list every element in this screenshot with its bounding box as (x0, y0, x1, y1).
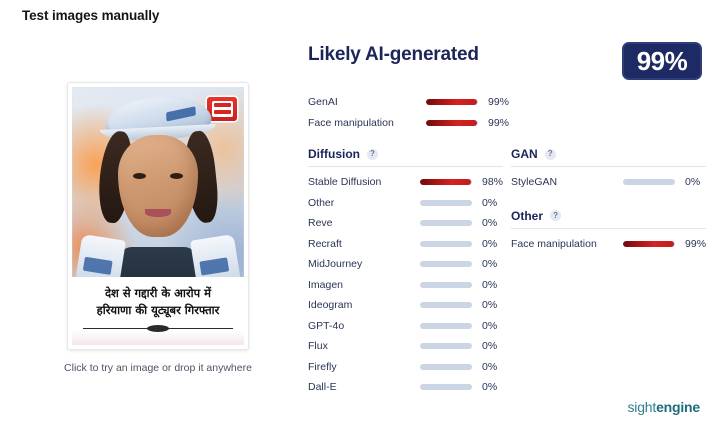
summary-1-bar-fill (426, 120, 477, 126)
summary-1-percent: 99% (488, 117, 509, 129)
aajtak-watermark-icon (207, 97, 237, 121)
gan-0-bar-track (623, 179, 675, 185)
diffusion-1-bar-track (420, 200, 472, 206)
gan-section: GAN?StyleGAN0% (511, 147, 706, 193)
diffusion-10-percent: 0% (482, 381, 497, 393)
other-0-bar-track (623, 241, 675, 247)
gan-item-list: StyleGAN0% (511, 172, 706, 193)
diffusion-4-bar-track (420, 261, 472, 267)
diffusion-6-label: Ideogram (308, 299, 414, 311)
other-item-list: Face manipulation99% (511, 234, 706, 255)
diffusion-3-bar-track (420, 241, 472, 247)
other-section: Other?Face manipulation99% (511, 209, 706, 255)
diffusion-item-list: Stable Diffusion98%Other0%Reve0%Recraft0… (308, 172, 503, 398)
sightengine-logo: sightengine (628, 399, 701, 415)
diffusion-column: Diffusion?Stable Diffusion98%Other0%Reve… (308, 147, 503, 398)
diffusion-2-bar-track (420, 220, 472, 226)
diffusion-3-label: Recraft (308, 238, 414, 250)
diffusion-1-label: Other (308, 197, 414, 209)
diffusion-5-percent: 0% (482, 279, 497, 291)
diffusion-7-percent: 0% (482, 320, 497, 332)
summary-0-percent: 99% (488, 96, 509, 108)
diffusion-9-bar-track (420, 364, 472, 370)
logo-text-bold: engine (656, 399, 700, 415)
results-panel: Likely AI-generated GenAI99%Face manipul… (308, 44, 706, 398)
diffusion-section-header: Diffusion? (308, 147, 503, 167)
diffusion-10-row: Dall-E0% (308, 377, 503, 398)
diffusion-9-row: Firefly0% (308, 357, 503, 378)
upload-panel[interactable]: देश से गद्दारी के आरोप में हरियाणा की यू… (52, 82, 264, 374)
gan-0-label: StyleGAN (511, 176, 617, 188)
other-0-label: Face manipulation (511, 238, 617, 250)
summary-0-bar-track (426, 99, 478, 105)
diffusion-1-percent: 0% (482, 197, 497, 209)
diffusion-5-bar-track (420, 282, 472, 288)
diffusion-0-percent: 98% (482, 176, 503, 188)
diffusion-8-percent: 0% (482, 340, 497, 352)
gan-section-header: GAN? (511, 147, 706, 167)
diffusion-7-bar-track (420, 323, 472, 329)
diffusion-10-label: Dall-E (308, 381, 414, 393)
diffusion-3-percent: 0% (482, 238, 497, 250)
gan-other-column: GAN?StyleGAN0%Other?Face manipulation99% (511, 147, 706, 398)
diffusion-3-row: Recraft0% (308, 234, 503, 255)
diffusion-8-bar-track (420, 343, 472, 349)
diffusion-0-label: Stable Diffusion (308, 176, 414, 188)
overall-score-badge: 99% (622, 42, 702, 80)
diffusion-7-row: GPT-4o0% (308, 316, 503, 337)
diffusion-2-row: Reve0% (308, 213, 503, 234)
detection-columns: Diffusion?Stable Diffusion98%Other0%Reve… (308, 147, 706, 398)
diffusion-2-percent: 0% (482, 217, 497, 229)
photo-headline-strip: देश से गद्दारी के आरोप में हरियाणा की यू… (72, 277, 244, 345)
summary-1-bar-track (426, 120, 478, 126)
diffusion-4-percent: 0% (482, 258, 497, 270)
diffusion-6-bar-track (420, 302, 472, 308)
eye-right-shape (170, 173, 183, 179)
mouth-shape (145, 209, 171, 217)
other-section-title: Other (511, 209, 543, 223)
other-section-header: Other? (511, 209, 706, 229)
diffusion-help-icon[interactable]: ? (367, 149, 378, 160)
diffusion-4-label: MidJourney (308, 258, 414, 270)
diffusion-9-label: Firefly (308, 361, 414, 373)
summary-score-list: GenAI99%Face manipulation99% (308, 92, 706, 133)
drop-image-caption: Click to try an image or drop it anywher… (52, 362, 264, 374)
gan-section-title: GAN (511, 147, 538, 161)
other-help-icon[interactable]: ? (550, 210, 561, 221)
photo-headline-divider (83, 325, 233, 332)
gan-help-icon[interactable]: ? (545, 149, 556, 160)
other-0-percent: 99% (685, 238, 706, 250)
diffusion-0-bar-track (420, 179, 472, 185)
uploaded-image-preview[interactable]: देश से गद्दारी के आरोप में हरियाणा की यू… (72, 87, 244, 345)
diffusion-8-row: Flux0% (308, 336, 503, 357)
summary-0-label: GenAI (308, 96, 420, 108)
gan-0-row: StyleGAN0% (511, 172, 706, 193)
diffusion-section: Diffusion?Stable Diffusion98%Other0%Reve… (308, 147, 503, 398)
uploaded-image-card[interactable]: देश से गद्दारी के आरोप में हरियाणा की यू… (67, 82, 249, 350)
diffusion-8-label: Flux (308, 340, 414, 352)
diffusion-2-label: Reve (308, 217, 414, 229)
diffusion-5-row: Imagen0% (308, 275, 503, 296)
other-0-bar-fill (623, 241, 674, 247)
summary-1-label: Face manipulation (308, 117, 420, 129)
summary-0-row: GenAI99% (308, 92, 706, 113)
gan-0-percent: 0% (685, 176, 700, 188)
diffusion-10-bar-track (420, 384, 472, 390)
summary-0-bar-fill (426, 99, 477, 105)
diffusion-1-row: Other0% (308, 193, 503, 214)
diffusion-9-percent: 0% (482, 361, 497, 373)
logo-text-light: sight (628, 399, 657, 415)
other-0-row: Face manipulation99% (511, 234, 706, 255)
eye-left-shape (133, 173, 146, 179)
diffusion-6-percent: 0% (482, 299, 497, 311)
page-title: Test images manually (22, 8, 159, 23)
diffusion-6-row: Ideogram0% (308, 295, 503, 316)
summary-1-row: Face manipulation99% (308, 113, 706, 134)
diffusion-section-title: Diffusion (308, 147, 360, 161)
diffusion-7-label: GPT-4o (308, 320, 414, 332)
photo-headline-line-2: हरियाणा की यूट्यूबर गिरफ्तार (78, 302, 238, 319)
photo-headline-line-1: देश से गद्दारी के आरोप में (78, 285, 238, 302)
diffusion-5-label: Imagen (308, 279, 414, 291)
diffusion-0-row: Stable Diffusion98% (308, 172, 503, 193)
diffusion-0-bar-fill (420, 179, 471, 185)
diffusion-4-row: MidJourney0% (308, 254, 503, 275)
